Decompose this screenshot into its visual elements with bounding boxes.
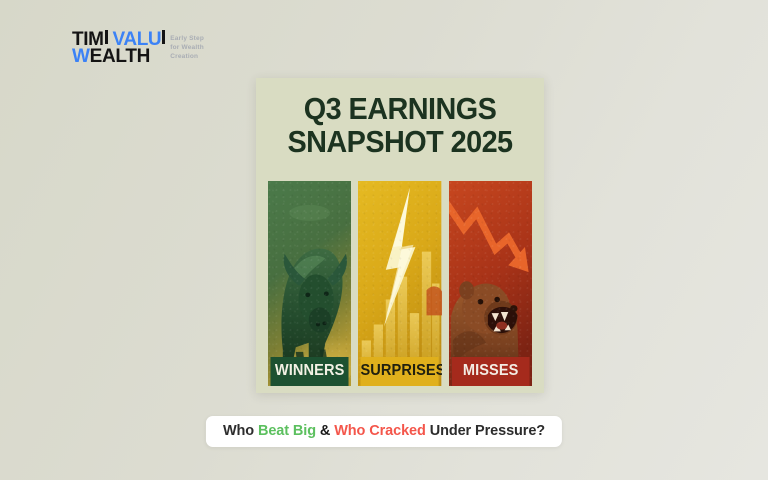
panel-misses[interactable]: MISSES — [449, 181, 532, 386]
poster-caption[interactable]: Who Beat Big & Who Cracked Under Pressur… — [206, 416, 562, 447]
logo-wordmark: TIMVALU WEALTH — [72, 31, 165, 66]
logo-e-bar-2 — [162, 30, 165, 44]
poster-panels: WINNERS — [268, 181, 532, 386]
bear-icon — [449, 181, 532, 386]
logo-line-2: WEALTH — [72, 48, 165, 65]
poster-inner: Q3 EARNINGS SNAPSHOT 2025 — [268, 88, 532, 381]
screenshot-canvas: TIMVALU WEALTH Early Step for Wealth Cre… — [0, 0, 768, 480]
caption-highlight-red: Who Cracked — [334, 423, 426, 439]
panel-surprises[interactable]: SURPRISES — [358, 181, 441, 386]
caption-part-2: & — [316, 423, 334, 439]
q3-earnings-snapshot-poster[interactable]: Q3 EARNINGS SNAPSHOT 2025 — [256, 78, 544, 393]
caption-part-1: Who — [223, 423, 258, 439]
caption-part-3: Under Pressure? — [426, 423, 545, 439]
panel-label-surprises: SURPRISES — [361, 357, 439, 386]
panel-winners[interactable]: WINNERS — [268, 181, 351, 386]
logo-e-bar-1 — [105, 30, 108, 44]
lightning-bolt-icon — [358, 181, 441, 386]
logo-tagline: Early Step for Wealth Creation — [170, 31, 204, 62]
panel-label-misses: MISSES — [451, 357, 529, 386]
bull-icon — [268, 181, 351, 386]
panel-label-winners: WINNERS — [270, 357, 348, 386]
poster-title: Q3 EARNINGS SNAPSHOT 2025 — [277, 88, 523, 159]
time-value-wealth-logo[interactable]: TIMVALU WEALTH Early Step for Wealth Cre… — [72, 31, 204, 66]
caption-highlight-green: Beat Big — [258, 423, 316, 439]
logo-text-ealth: EALTH — [90, 48, 150, 65]
logo-text-w: W — [72, 48, 90, 65]
